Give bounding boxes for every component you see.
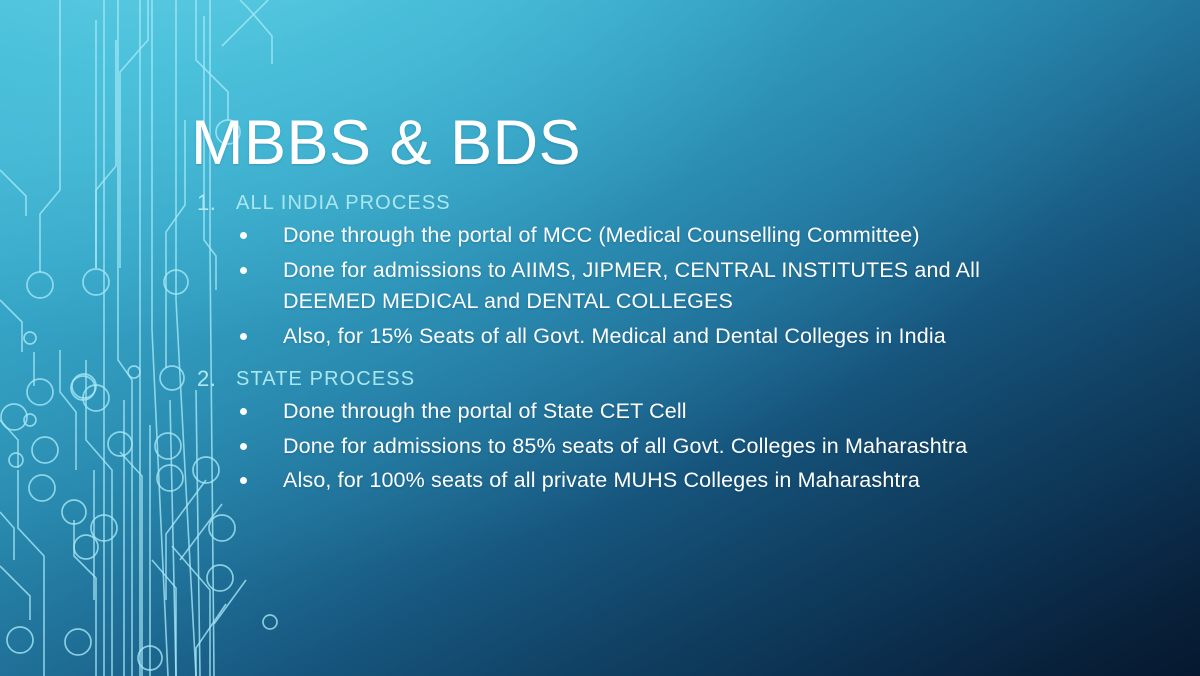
section-state-process: 2. STATE PROCESS Done through the portal…: [0, 366, 1060, 497]
list-item: Also, for 100% seats of all private MUHS…: [0, 465, 1060, 497]
section-number: 2.: [197, 366, 216, 392]
section-label: ALL INDIA PROCESS: [236, 190, 451, 216]
slide-content: MBBS & BDS 1. ALL INDIA PROCESS Done thr…: [0, 0, 1200, 676]
presentation-slide: MBBS & BDS 1. ALL INDIA PROCESS Done thr…: [0, 0, 1200, 676]
list-item: Done through the portal of State CET Cel…: [0, 396, 1060, 428]
outline-list: 1. ALL INDIA PROCESS Done through the po…: [0, 190, 1060, 500]
page-title: MBBS & BDS: [191, 112, 581, 175]
section-heading: 2. STATE PROCESS: [0, 366, 1060, 394]
section-heading: 1. ALL INDIA PROCESS: [0, 190, 1060, 218]
section-all-india-process: 1. ALL INDIA PROCESS Done through the po…: [0, 190, 1060, 352]
section-label: STATE PROCESS: [236, 366, 415, 392]
list-item: Done through the portal of MCC (Medical …: [0, 220, 1060, 252]
bullet-list: Done through the portal of MCC (Medical …: [0, 220, 1060, 352]
list-item: Also, for 15% Seats of all Govt. Medical…: [0, 321, 1060, 353]
list-item: Done for admissions to 85% seats of all …: [0, 431, 1060, 463]
list-item: Done for admissions to AIIMS, JIPMER, CE…: [0, 255, 1060, 318]
bullet-list: Done through the portal of State CET Cel…: [0, 396, 1060, 497]
section-spacer: [0, 355, 1060, 366]
section-number: 1.: [197, 190, 216, 216]
